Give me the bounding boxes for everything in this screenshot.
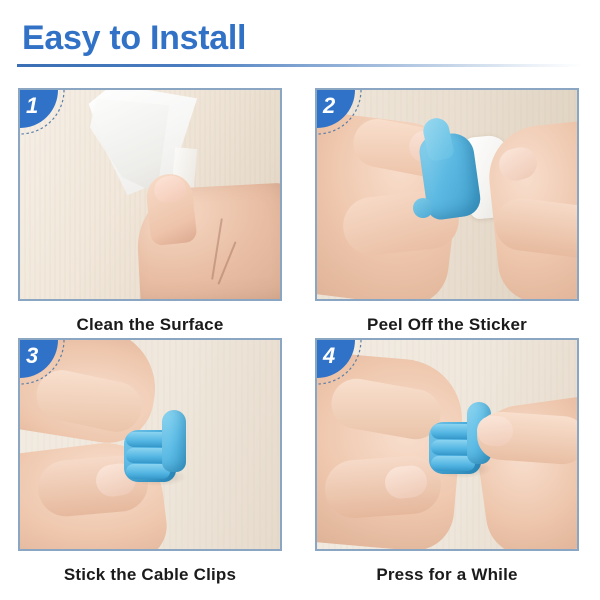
step-number-2: 2 [323,93,335,119]
step-photo-4: 4 [315,338,579,551]
step-number-4: 4 [323,343,335,369]
step-card-3: 3 Stick the Cable Clips [18,338,282,585]
step-card-1: 1 Clean the Surface [18,88,282,335]
step-caption-4: Press for a While [315,565,579,585]
step-caption-1: Clean the Surface [18,315,282,335]
step-card-2: 2 Peel Off the Sticker [315,88,579,335]
header: Easy to Install [0,0,600,74]
cable-clip [124,412,186,482]
cable-clip-knob [413,198,433,218]
page-title: Easy to Install [22,18,246,58]
steps-grid: 1 Clean the Surface [0,88,600,588]
title-divider [17,64,583,67]
step-photo-1: 1 [18,88,282,301]
step-number-1: 1 [26,93,38,119]
step-photo-3: 3 [18,338,282,551]
step-caption-2: Peel Off the Sticker [315,315,579,335]
clip-thumb [162,410,186,472]
step-photo-2: 2 [315,88,579,301]
step-caption-3: Stick the Cable Clips [18,565,282,585]
easy-to-install-infographic: Easy to Install 1 [0,0,600,600]
step-number-3: 3 [26,343,38,369]
step-card-4: 4 Press for a While [315,338,579,585]
